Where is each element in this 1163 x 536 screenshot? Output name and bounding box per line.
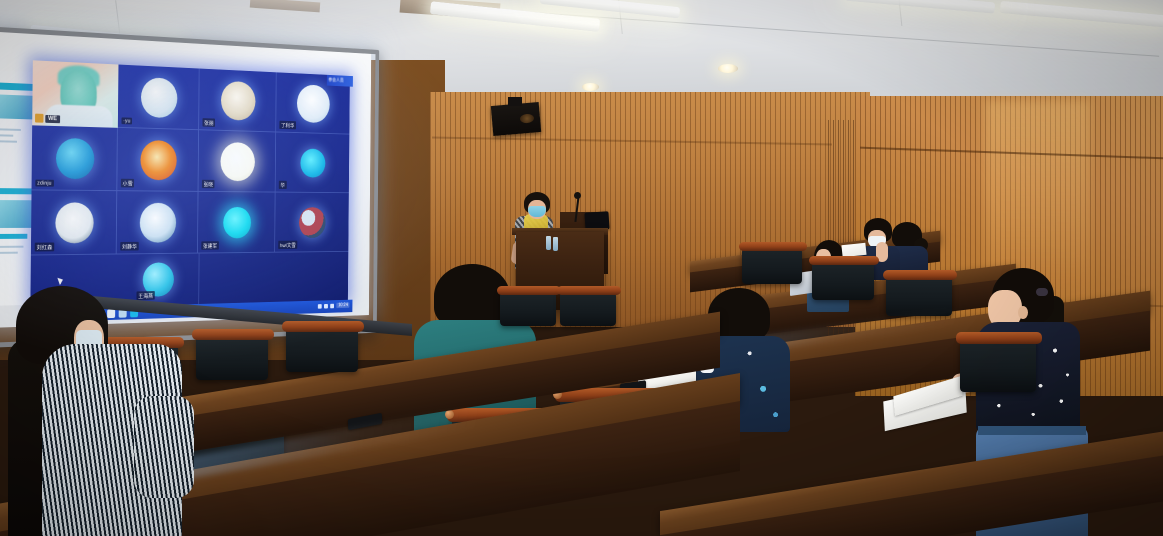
avatar xyxy=(223,206,251,238)
participant-name: 刘静华 xyxy=(120,242,139,251)
avatar xyxy=(55,202,94,243)
avatar xyxy=(140,77,177,118)
wall-speaker-icon xyxy=(491,102,541,136)
speaker-bracket xyxy=(508,97,522,106)
microphone-icon xyxy=(574,192,581,199)
participant-tile[interactable]: 张晓 xyxy=(198,130,276,192)
mic-icon xyxy=(35,114,43,123)
participant-tile[interactable]: zdinju xyxy=(32,125,118,191)
participant-name: 王海燕 xyxy=(136,291,154,300)
participant-tile[interactable]: 刘静华 xyxy=(117,191,199,254)
avatar xyxy=(220,80,255,120)
participant-tile[interactable]: 刘红森 xyxy=(31,190,117,255)
participant-name: 张建军 xyxy=(201,241,219,250)
participant-name: 小雪 xyxy=(121,179,135,188)
ceiling-downlight xyxy=(582,83,599,91)
participant-grid: WE ·yu 张丽 了利华 zd xyxy=(31,60,350,255)
participant-name: ·yu xyxy=(121,117,132,124)
attendee-ear xyxy=(1018,306,1028,319)
meeting-icon[interactable] xyxy=(107,309,115,318)
participant-tile[interactable]: ·yu xyxy=(118,65,200,131)
self-name-label: WE xyxy=(45,114,60,122)
participant-name: 华 xyxy=(279,181,287,189)
participant-tile[interactable]: 小雪 xyxy=(117,128,199,192)
participant-tile[interactable]: 华 xyxy=(276,132,350,193)
battery-icon[interactable] xyxy=(331,303,335,308)
avatar xyxy=(140,139,177,179)
ceiling-vent xyxy=(250,0,321,12)
attendee-sleeve xyxy=(134,396,194,498)
participant-name: 了利华 xyxy=(279,121,296,130)
avatar xyxy=(300,148,325,177)
participant-tile[interactable]: hwl文雪 xyxy=(275,193,349,253)
video-conference-window[interactable]: WE ·yu 张丽 了利华 zd xyxy=(30,60,350,308)
self-video-tile[interactable]: WE xyxy=(32,60,118,128)
participant-name: 张丽 xyxy=(202,118,215,127)
participant-name: 张晓 xyxy=(202,180,215,189)
avatar xyxy=(220,141,255,180)
hair-tie-icon xyxy=(1036,288,1048,296)
mouse-cursor-icon xyxy=(57,276,64,285)
water-bottle xyxy=(553,237,558,251)
participant-name: hwl文雪 xyxy=(278,241,297,249)
avatar xyxy=(297,84,330,123)
participant-tile[interactable]: WE xyxy=(32,60,118,128)
network-icon[interactable] xyxy=(318,304,322,309)
participant-name: 刘红森 xyxy=(35,242,55,251)
participant-tile[interactable]: 张建军 xyxy=(198,192,276,254)
volume-icon[interactable] xyxy=(324,303,328,308)
attendee-hair xyxy=(434,264,510,328)
conference-room-photo: WE ·yu 张丽 了利华 zd xyxy=(0,0,1163,536)
water-bottle xyxy=(546,236,551,250)
ceiling-downlight xyxy=(718,64,738,73)
avatar xyxy=(139,202,176,242)
participants-panel-label: 参会人员 xyxy=(328,77,343,84)
participant-name: zdinju xyxy=(35,180,53,187)
participant-tile[interactable]: 张丽 xyxy=(199,69,277,133)
self-name-tag: WE xyxy=(35,114,60,124)
jeans-waistband xyxy=(978,426,1086,435)
system-tray[interactable]: 10:24 xyxy=(318,302,349,308)
avatar xyxy=(55,137,94,179)
clock[interactable]: 10:24 xyxy=(337,302,350,308)
avatar xyxy=(299,207,326,238)
